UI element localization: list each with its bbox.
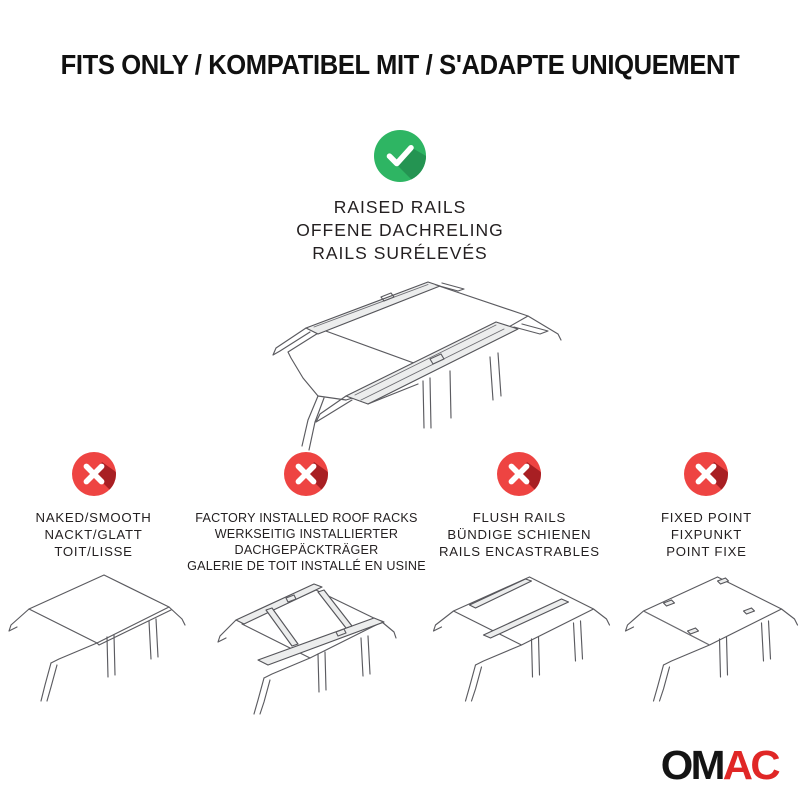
- compatible-label-en: RAISED RAILS: [0, 196, 800, 219]
- check-circle-icon: [374, 130, 426, 182]
- incompatible-labels: FLUSH RAILS BÜNDIGE SCHIENEN RAILS ENCAS…: [426, 510, 613, 561]
- label-fr: RAILS ENCASTRABLES: [426, 544, 613, 561]
- x-circle-icon: [72, 452, 116, 496]
- header: FITS ONLY / KOMPATIBEL MIT / S'ADAPTE UN…: [0, 50, 800, 80]
- compatible-label-fr: RAILS SURÉLEVÉS: [0, 242, 800, 265]
- label-fr: GALERIE DE TOIT INSTALLÉ EN USINE: [187, 558, 426, 574]
- label-en: FLUSH RAILS: [426, 510, 613, 527]
- incompatible-item-factory-racks: FACTORY INSTALLED ROOF RACKS WERKSEITIG …: [187, 452, 426, 720]
- label-de: FIXPUNKT: [613, 527, 800, 544]
- logo-text-om: OM: [661, 742, 723, 788]
- car-roof-naked-smooth-illustration: [0, 567, 187, 707]
- compatible-labels: RAISED RAILS OFFENE DACHRELING RAILS SUR…: [0, 196, 800, 265]
- incompatible-item-naked-smooth: NAKED/SMOOTH NACKT/GLATT TOIT/LISSE: [0, 452, 187, 707]
- label-fr: TOIT/LISSE: [0, 544, 187, 561]
- x-circle-icon: [284, 452, 328, 496]
- label-en: FACTORY INSTALLED ROOF RACKS: [187, 510, 426, 526]
- label-de: NACKT/GLATT: [0, 527, 187, 544]
- x-circle-icon: [497, 452, 541, 496]
- incompatible-labels: FIXED POINT FIXPUNKT POINT FIXE: [613, 510, 800, 561]
- label-de-1: WERKSEITIG INSTALLIERTER: [187, 526, 426, 542]
- x-circle-icon: [684, 452, 728, 496]
- label-de-2: DACHGEPÄCKTRÄGER: [187, 542, 426, 558]
- page-title: FITS ONLY / KOMPATIBEL MIT / S'ADAPTE UN…: [28, 50, 772, 80]
- car-roof-flush-rails-illustration: [426, 567, 613, 707]
- car-roof-raised-rails-illustration: [228, 278, 578, 468]
- car-roof-factory-racks-illustration: [187, 580, 426, 720]
- label-fr: POINT FIXE: [613, 544, 800, 561]
- incompatible-labels: NAKED/SMOOTH NACKT/GLATT TOIT/LISSE: [0, 510, 187, 561]
- compatible-section: RAISED RAILS OFFENE DACHRELING RAILS SUR…: [0, 130, 800, 265]
- incompatible-labels: FACTORY INSTALLED ROOF RACKS WERKSEITIG …: [187, 510, 426, 574]
- label-en: NAKED/SMOOTH: [0, 510, 187, 527]
- logo-text-ac: AC: [723, 742, 778, 788]
- label-en: FIXED POINT: [613, 510, 800, 527]
- incompatible-section: NAKED/SMOOTH NACKT/GLATT TOIT/LISSE: [0, 452, 800, 720]
- car-roof-fixed-point-illustration: [613, 567, 800, 707]
- omac-logo: OMAC: [661, 745, 778, 786]
- incompatible-item-flush-rails: FLUSH RAILS BÜNDIGE SCHIENEN RAILS ENCAS…: [426, 452, 613, 707]
- incompatible-item-fixed-point: FIXED POINT FIXPUNKT POINT FIXE: [613, 452, 800, 707]
- compatible-label-de: OFFENE DACHRELING: [0, 219, 800, 242]
- label-de: BÜNDIGE SCHIENEN: [426, 527, 613, 544]
